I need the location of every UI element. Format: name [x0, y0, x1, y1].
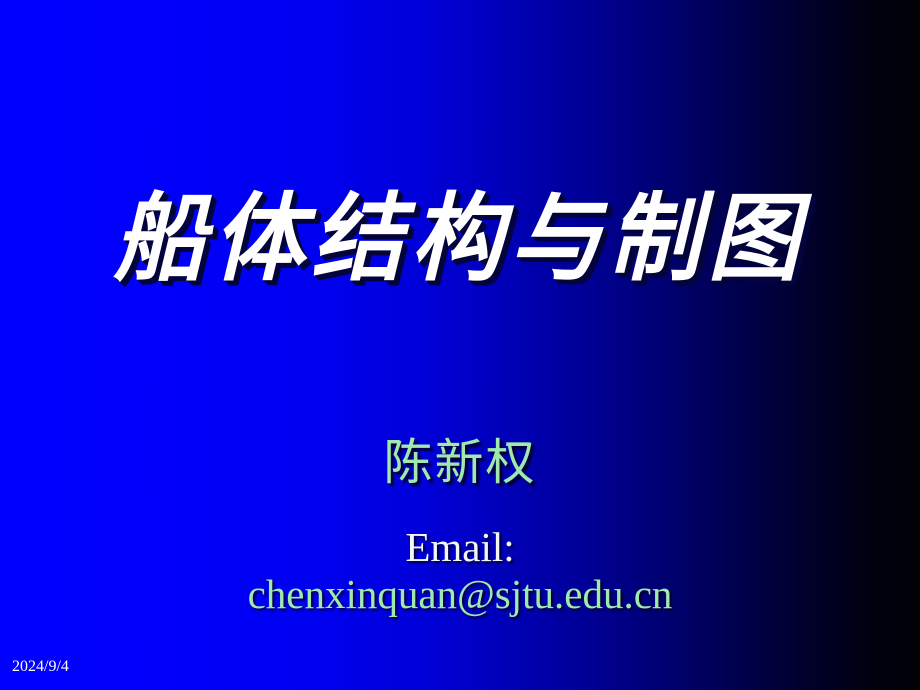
- title-slide: 船体结构与制图 陈新权 Email: chenxinquan@sjtu.edu.…: [0, 0, 920, 690]
- slide-author: 陈新权: [0, 432, 920, 494]
- email-address[interactable]: chenxinquan@sjtu.edu.cn: [0, 571, 920, 618]
- date-text: 2024/9/4: [12, 658, 69, 675]
- slide-title: 船体结构与制图: [0, 186, 920, 290]
- slide-footer-date: 2024/9/4: [12, 657, 69, 677]
- slide-email: Email: chenxinquan@sjtu.edu.cn: [0, 524, 920, 618]
- slide-title-text: 船体结构与制图: [113, 184, 806, 292]
- email-label: Email:: [0, 524, 920, 571]
- author-name-text: 陈新权: [383, 432, 536, 494]
